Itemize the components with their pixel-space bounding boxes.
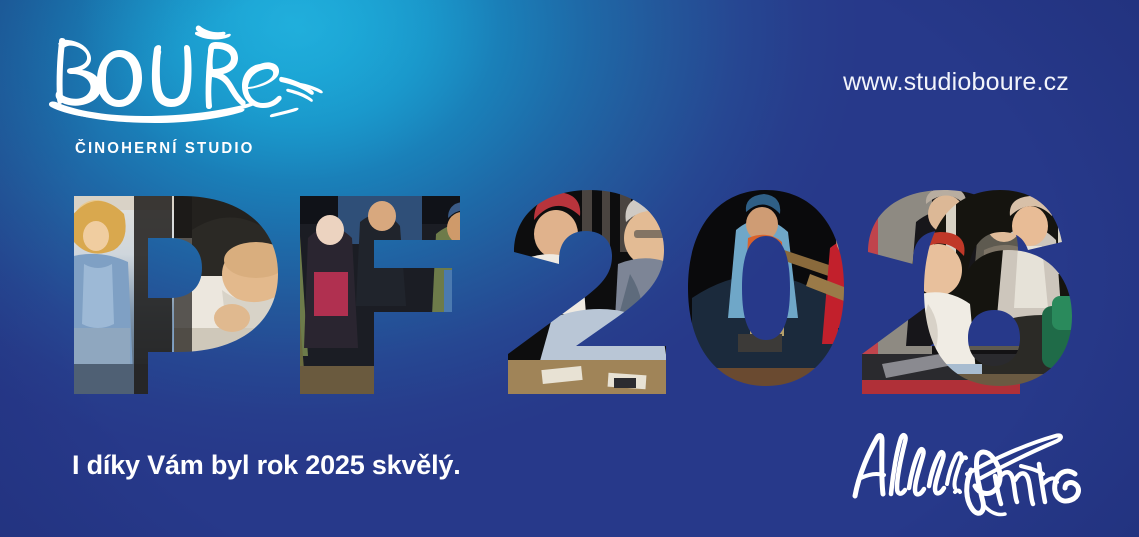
- logo-subtitle: ČINOHERNÍ STUDIO: [75, 140, 254, 158]
- greeting-card: ČINOHERNÍ STUDIO www.studioboure.cz: [0, 0, 1139, 537]
- signature-icon: [843, 412, 1088, 520]
- letter-f: [290, 178, 470, 396]
- studio-boure-logo: ČINOHERNÍ STUDIO: [48, 22, 338, 147]
- boure-wordmark-icon: [48, 22, 338, 142]
- digit-0: [678, 178, 888, 396]
- pf-2026-photo-type: [62, 178, 1074, 396]
- letter-p: [62, 178, 310, 396]
- handwritten-signature: [843, 412, 1088, 520]
- website-url[interactable]: www.studioboure.cz: [843, 68, 1069, 97]
- headline-pf-2026: [62, 178, 1074, 396]
- tagline-text: I díky Vám byl rok 2025 skvělý.: [72, 450, 461, 481]
